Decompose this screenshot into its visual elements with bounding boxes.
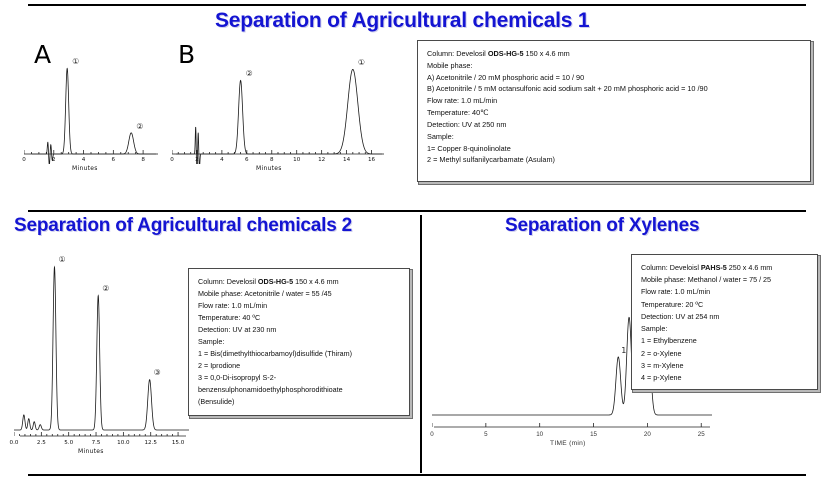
axis-title: Minutes <box>72 165 98 172</box>
axis-tick-label: 2 <box>195 157 199 163</box>
axis-title: TIME (min) <box>550 440 586 447</box>
info-line: Mobile phase: <box>427 60 801 72</box>
axis-tick-label: 6 <box>245 157 249 163</box>
peak-label: ① <box>358 58 365 67</box>
peak-label: ② <box>102 284 109 293</box>
info-line: Flow rate: 1.0 mL/min <box>427 95 801 107</box>
info-line: 3 = m-Xylene <box>641 360 808 372</box>
divider-top <box>28 4 806 6</box>
peak-label: 1 <box>621 346 626 355</box>
page-title-agricultural-2: Separation of Agricultural chemicals 2 <box>14 215 352 237</box>
axis-tick-label: 10 <box>536 431 543 438</box>
axis-tick-label: 12 <box>318 157 325 163</box>
poster-page: Separation of Agricultural chemicals 1 A… <box>0 0 828 486</box>
axis-tick-label: 0.0 <box>10 440 19 446</box>
axis-tick-label: 15 <box>590 431 597 438</box>
axis-tick-label: 5 <box>484 431 487 438</box>
axis-title: Minutes <box>256 165 282 172</box>
info-line: Temperature: 20 ºC <box>641 299 808 311</box>
info-line: Detection: UV at 230 nm <box>198 324 400 336</box>
axis-tick-label: 10 <box>293 157 300 163</box>
peak-label: ① <box>58 255 65 264</box>
axis-tick-label: 7.5 <box>92 440 101 446</box>
info-line: 1= Copper 8-quinolinolate <box>427 143 801 155</box>
info-line: 1 = Bis(dimethylthiocarbamoyl)disulfide … <box>198 348 400 360</box>
info-line: 2 = o-Xylene <box>641 348 808 360</box>
info-line: Mobile phase: Methanol / water = 75 / 25 <box>641 274 808 286</box>
peak-label: ③ <box>154 368 161 377</box>
info-line: 2 = Methyl sulfanilycarbamate (Asulam) <box>427 154 801 166</box>
info-line: (Bensulide) <box>198 396 400 408</box>
info-line: Sample: <box>427 131 801 143</box>
info-line: Detection: UV at 250 nm <box>427 119 801 131</box>
info-line: Column: Develosil ODS-HG-5 150 x 4.6 mm <box>198 276 400 288</box>
info-line: Flow rate: 1.0 mL/min <box>641 286 808 298</box>
chromatogram-b: 0246810121416Minutes②① <box>172 44 384 164</box>
divider-bottom <box>28 474 806 476</box>
axis-title: Minutes <box>78 448 104 455</box>
page-title-agricultural-1: Separation of Agricultural chemicals 1 <box>215 9 589 33</box>
axis-tick-label: 2 <box>52 157 56 163</box>
info-line: Sample: <box>198 336 400 348</box>
info-line: 2 = Iprodione <box>198 360 400 372</box>
info-line: benzensulphonamidoethylphosphorodithioat… <box>198 384 400 396</box>
method-info-box-agricultural-2: Column: Develosil ODS-HG-5 150 x 4.6 mmM… <box>188 268 410 416</box>
info-line: B) Acetonitrile / 5 mM octansulfonic aci… <box>427 83 801 95</box>
info-line: Flow rate: 1.0 mL/min <box>198 300 400 312</box>
axis-tick-label: 2.5 <box>37 440 46 446</box>
divider-vertical <box>420 215 422 473</box>
info-line: 4 = p-Xylene <box>641 372 808 384</box>
info-line: Column: Develosil ODS-HG-5 150 x 4.6 mm <box>427 48 801 60</box>
axis-tick-label: 8 <box>141 157 145 163</box>
page-title-xylenes: Separation of Xylenes <box>505 215 699 237</box>
axis-tick-label: 0 <box>22 157 26 163</box>
info-line: Column: Develoisl PAHS-5 250 x 4.6 mm <box>641 262 808 274</box>
chromatogram-trace <box>14 248 189 448</box>
axis-tick-label: 20 <box>644 431 651 438</box>
axis-tick-label: 5.0 <box>64 440 73 446</box>
info-line: Sample: <box>641 323 808 335</box>
divider-middle <box>28 210 806 212</box>
peak-label: ② <box>136 122 143 131</box>
peak-label: ② <box>246 69 253 78</box>
axis-tick-label: 15.0 <box>172 440 184 446</box>
axis-tick-label: 0 <box>430 431 433 438</box>
chromatogram-trace <box>24 44 158 164</box>
axis-tick-label: 6 <box>112 157 116 163</box>
chromatogram-agricultural-2: 0.02.55.07.510.012.515.0Minutes①②③ <box>14 248 189 448</box>
info-line: A) Acetonitrile / 20 mM phosphoric acid … <box>427 72 801 84</box>
axis-tick-label: 14 <box>343 157 350 163</box>
info-line: Temperature: 40℃ <box>427 107 801 119</box>
axis-tick-label: 4 <box>220 157 224 163</box>
axis-tick-label: 4 <box>82 157 86 163</box>
chromatogram-a: 02468Minutes①② <box>24 44 158 164</box>
axis-tick-label: 12.5 <box>144 440 156 446</box>
info-line: Temperature: 40 ºC <box>198 312 400 324</box>
axis-tick-label: 10.0 <box>117 440 129 446</box>
axis-tick-label: 0 <box>170 157 174 163</box>
axis-tick-label: 25 <box>698 431 705 438</box>
method-info-box-agricultural-1: Column: Develosil ODS-HG-5 150 x 4.6 mmM… <box>417 40 811 182</box>
peak-label: ① <box>72 57 79 66</box>
info-line: Mobile phase: Acetonitrile / water = 55 … <box>198 288 400 300</box>
info-line: 3 = 0,0-Di-isopropyl S-2- <box>198 372 400 384</box>
info-line: Detection: UV at 254 nm <box>641 311 808 323</box>
axis-tick-label: 8 <box>270 157 274 163</box>
method-info-box-xylenes: Column: Develoisl PAHS-5 250 x 4.6 mmMob… <box>631 254 818 390</box>
chromatogram-trace <box>172 44 384 164</box>
info-line: 1 = Ethylbenzene <box>641 335 808 347</box>
axis-tick-label: 16 <box>368 157 375 163</box>
